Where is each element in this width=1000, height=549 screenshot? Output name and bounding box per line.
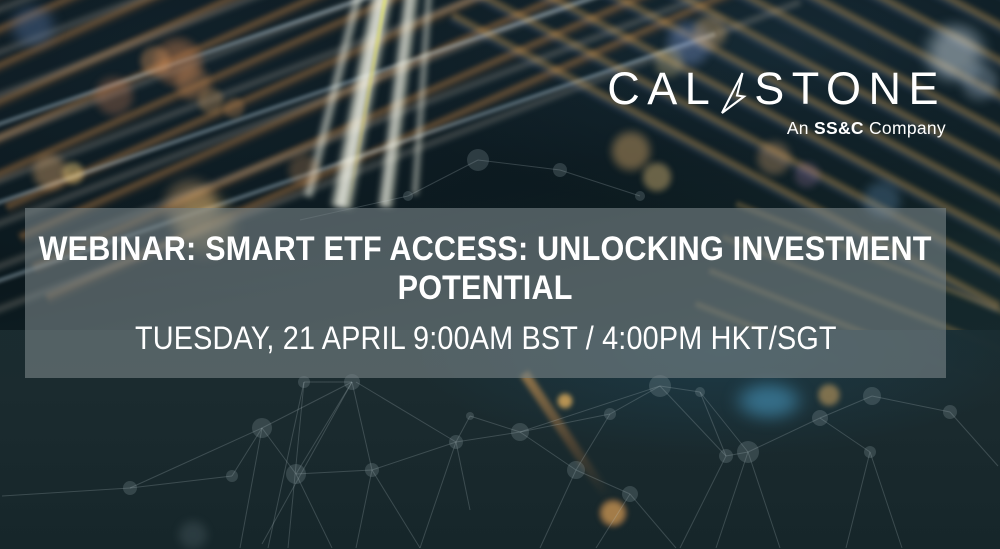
wordmark-text-left: CAL: [607, 66, 717, 111]
wordmark-text-right: STONE: [754, 66, 946, 111]
webinar-banner: CAL STONE An SS&C Company WEBINAR: SMART…: [0, 0, 1000, 549]
tagline-brand: SS&C: [814, 118, 864, 138]
webinar-title-line1: WEBINAR: SMART ETF ACCESS: UNLOCKING INV…: [39, 230, 932, 268]
tagline-prefix: An: [787, 118, 814, 138]
calastone-arrow-a-icon: [718, 70, 748, 114]
logo-tagline: An SS&C Company: [607, 120, 946, 138]
webinar-title: WEBINAR: SMART ETF ACCESS: UNLOCKING INV…: [39, 230, 932, 310]
calastone-wordmark: CAL STONE: [607, 66, 946, 111]
caption-panel: WEBINAR: SMART ETF ACCESS: UNLOCKING INV…: [25, 208, 946, 378]
webinar-title-line2: POTENTIAL: [39, 269, 932, 309]
webinar-datetime: TUESDAY, 21 APRIL 9:00AM BST / 4:00PM HK…: [135, 321, 837, 356]
tagline-suffix: Company: [864, 118, 946, 138]
calastone-logo: CAL STONE An SS&C Company: [607, 66, 946, 138]
